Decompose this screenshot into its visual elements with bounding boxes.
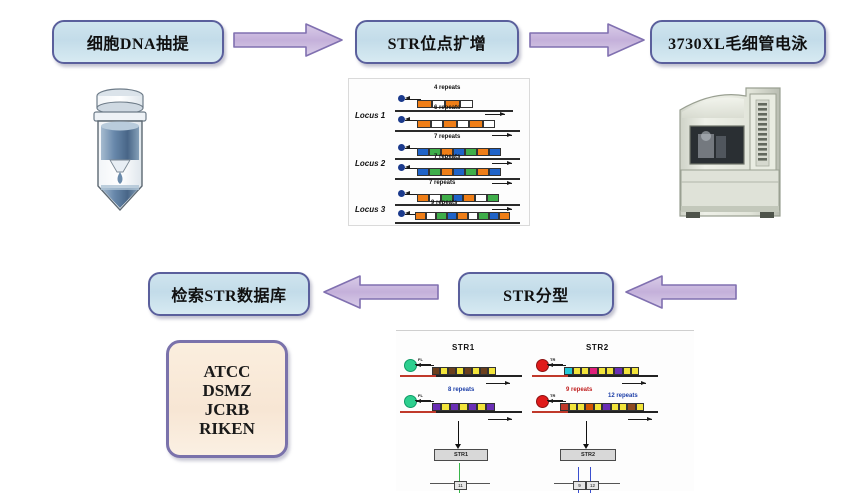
repeat-label: 8 repeats	[448, 387, 474, 393]
repeat-unit	[432, 367, 440, 375]
gel-lane-str1: STR1	[434, 449, 488, 461]
repeat-unit	[480, 367, 488, 375]
marker-title-str2: STR2	[586, 343, 609, 352]
repeat-unit	[606, 367, 614, 375]
str-database-list[interactable]: ATCC DSMZ JCRB RIKEN	[166, 340, 288, 458]
repeat-label: 7 repeats	[429, 180, 455, 186]
repeat-unit	[489, 148, 501, 156]
repeat-unit	[472, 367, 480, 375]
dye-tag: FL	[418, 357, 423, 362]
repeat-unit	[429, 168, 441, 176]
repeat-unit	[489, 212, 499, 220]
arrow-left-1	[322, 274, 440, 310]
primer-arrow-reverse	[485, 114, 505, 115]
repeat-unit	[564, 367, 573, 375]
process-box-label: 细胞DNA抽提	[87, 30, 189, 54]
arrow-right-1	[232, 22, 344, 58]
workflow-diagram: 细胞DNA抽提 STR位点扩增 3730XL毛细管电泳	[0, 0, 843, 496]
repeat-unit	[450, 403, 459, 411]
repeat-unit	[459, 403, 468, 411]
repeat-unit	[489, 168, 501, 176]
primer-dot	[398, 95, 405, 102]
locus-label-1: Locus 1	[355, 111, 385, 120]
primer-dot	[398, 210, 405, 217]
repeat-unit	[611, 403, 619, 411]
repeat-unit	[589, 367, 598, 375]
repeat-unit	[426, 212, 436, 220]
repeat-unit	[436, 212, 447, 220]
repeat-unit	[417, 148, 429, 156]
dye-tag: FL	[418, 393, 423, 398]
peak-allele-label: 12	[586, 481, 599, 490]
locus-label-2: Locus 2	[355, 159, 385, 168]
process-box-dna-extraction[interactable]: 细胞DNA抽提	[52, 20, 224, 64]
repeat-unit	[457, 120, 469, 128]
gel-lane-str2: STR2	[560, 449, 616, 461]
repeat-unit	[441, 403, 450, 411]
repeat-unit	[417, 194, 429, 202]
database-item-dsmz: DSMZ	[202, 381, 251, 400]
primer-arrow-reverse	[492, 209, 512, 210]
repeat-unit	[457, 212, 468, 220]
primer-arrow-reverse	[492, 135, 512, 136]
repeat-unit	[614, 367, 623, 375]
dna-strand	[395, 178, 520, 180]
repeat-unit	[465, 148, 477, 156]
dye-tag: TR	[550, 357, 555, 362]
dye-tag: TR	[550, 393, 555, 398]
database-item-atcc: ATCC	[204, 362, 251, 381]
repeat-unit	[463, 194, 475, 202]
repeat-label: 7 repeats	[434, 154, 460, 160]
repeat-unit	[598, 367, 606, 375]
primer-arrow-reverse	[622, 383, 646, 384]
str-typing-panel: STR1 FL 8 repeats FL	[396, 330, 694, 491]
dna-strand	[568, 375, 658, 377]
repeat-unit	[487, 194, 499, 202]
repeat-unit	[453, 168, 465, 176]
dna-strand	[395, 222, 520, 224]
repeat-unit	[468, 403, 477, 411]
repeat-unit	[483, 120, 495, 128]
repeat-unit	[560, 403, 569, 411]
repeat-unit	[469, 120, 483, 128]
repeat-unit	[573, 367, 581, 375]
process-box-label: 检索STR数据库	[171, 282, 286, 306]
primer-arrow-reverse	[488, 419, 512, 420]
marker-title-str1: STR1	[452, 343, 475, 352]
repeat-unit	[447, 212, 457, 220]
repeat-unit	[636, 403, 644, 411]
repeat-unit	[486, 403, 495, 411]
repeat-unit	[585, 403, 594, 411]
arrow-left-2	[624, 274, 738, 310]
primer-dot	[398, 144, 405, 151]
repeat-unit	[569, 403, 577, 411]
repeat-unit	[443, 120, 457, 128]
repeat-unit	[431, 120, 443, 128]
locus-label-3: Locus 3	[355, 205, 385, 214]
repeat-unit	[441, 168, 453, 176]
process-box-label: STR位点扩增	[388, 30, 487, 54]
repeat-unit	[581, 367, 589, 375]
repeat-label: 7 repeats	[434, 134, 460, 140]
primer-arrow-reverse	[486, 383, 510, 384]
repeat-label: 9 repeats	[431, 200, 457, 206]
repeat-unit	[499, 212, 510, 220]
peak-allele-label: 9	[573, 481, 586, 490]
primer-dot	[398, 190, 405, 197]
repeat-label: 9 repeats	[566, 387, 592, 393]
dna-strand	[436, 411, 522, 413]
primer-dot	[398, 164, 405, 171]
dna-strand	[395, 130, 520, 132]
str-locus-panel: Locus 1 4 repeats 6 repeats Locus 2 7 re…	[348, 78, 530, 226]
repeat-unit	[432, 403, 441, 411]
repeat-unit	[627, 403, 636, 411]
process-box-label: STR分型	[503, 282, 569, 306]
repeat-unit	[478, 212, 489, 220]
primer-arrow-reverse	[492, 183, 512, 184]
repeat-unit	[475, 194, 487, 202]
database-item-riken: RIKEN	[199, 419, 255, 438]
primer-arrow-reverse	[492, 163, 512, 164]
repeat-unit	[468, 212, 478, 220]
repeat-unit	[456, 367, 464, 375]
repeat-label-second: 12 repeats	[608, 393, 638, 399]
dna-strand	[436, 375, 522, 377]
process-box-str-typing[interactable]: STR分型	[458, 272, 614, 316]
repeat-unit	[619, 403, 627, 411]
arrow-right-2	[528, 22, 646, 58]
primer-arrow-reverse	[628, 419, 652, 420]
flow-arrow-down-str2	[586, 421, 587, 445]
repeat-unit	[465, 168, 477, 176]
repeat-unit	[460, 100, 473, 108]
repeat-unit	[464, 367, 472, 375]
repeat-unit	[577, 403, 585, 411]
repeat-label: 4 repeats	[434, 85, 460, 91]
repeat-unit	[417, 100, 432, 108]
repeat-unit	[417, 168, 429, 176]
repeat-unit	[415, 212, 426, 220]
database-item-jcrb: JCRB	[205, 400, 249, 419]
repeat-unit	[477, 148, 489, 156]
repeat-label: 6 repeats	[434, 105, 460, 111]
repeat-unit	[477, 168, 489, 176]
process-box-str-amplification[interactable]: STR位点扩增	[355, 20, 519, 64]
repeat-unit	[631, 367, 639, 375]
repeat-unit	[448, 367, 456, 375]
dna-strand	[568, 411, 658, 413]
process-box-search-str-database[interactable]: 检索STR数据库	[148, 272, 310, 316]
repeat-unit	[440, 367, 448, 375]
repeat-unit	[602, 403, 611, 411]
flow-arrow-down-str1	[458, 421, 459, 445]
repeat-unit	[488, 367, 496, 375]
dna-extraction-spin-column	[80, 82, 160, 227]
dna-strand	[395, 204, 520, 206]
repeat-unit	[594, 403, 602, 411]
repeat-unit	[417, 120, 431, 128]
peak-allele-label: 11	[454, 481, 467, 490]
repeat-unit	[623, 367, 631, 375]
process-box-capillary-electrophoresis[interactable]: 3730XL毛细管电泳	[650, 20, 826, 64]
primer-dot	[398, 116, 405, 123]
process-box-label: 3730XL毛细管电泳	[668, 30, 808, 54]
repeat-unit	[477, 403, 486, 411]
capillary-electrophoresis-instrument	[676, 84, 784, 231]
